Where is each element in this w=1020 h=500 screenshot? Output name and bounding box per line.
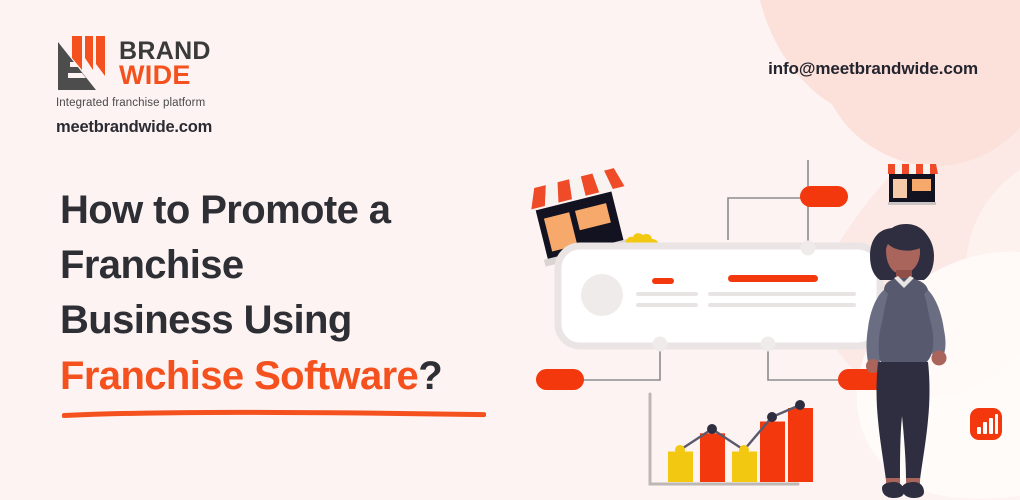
card-node bbox=[653, 337, 668, 352]
headline-question-mark: ? bbox=[418, 354, 442, 398]
contact-email[interactable]: info@meetbrandwide.com bbox=[768, 59, 978, 79]
brand-wordmark: BRAND WIDE bbox=[119, 38, 211, 88]
headline-accent-text: Franchise Software bbox=[60, 354, 418, 398]
brand-website[interactable]: meetbrandwide.com bbox=[56, 118, 316, 137]
bar-chart-app-icon[interactable] bbox=[970, 408, 1002, 440]
brand-block: BRAND WIDE Integrated franchise platform… bbox=[56, 34, 316, 137]
chart-bar bbox=[760, 422, 785, 483]
card-text-line bbox=[636, 303, 698, 307]
chart-marker bbox=[739, 445, 749, 455]
brand-tagline: Integrated franchise platform bbox=[56, 97, 316, 109]
headline-line-3: Business Using bbox=[60, 293, 530, 348]
promo-banner: BRAND WIDE Integrated franchise platform… bbox=[0, 0, 1020, 500]
chart-marker bbox=[707, 424, 717, 434]
bar-chart-icon bbox=[650, 394, 813, 484]
headline-line-4: Franchise Software? bbox=[60, 349, 530, 404]
person-pants bbox=[877, 362, 930, 480]
storefront-icon bbox=[888, 164, 938, 205]
connector-bottom-right bbox=[768, 345, 850, 380]
headline-line-1: How to Promote a bbox=[60, 183, 530, 238]
card-text-line bbox=[708, 292, 856, 296]
chart-bar bbox=[700, 433, 725, 482]
card-node bbox=[761, 337, 776, 352]
page-title: How to Promote a Franchise Business Usin… bbox=[60, 183, 530, 404]
person-standing-illustration bbox=[866, 224, 947, 498]
card-accent-bar-left bbox=[652, 278, 674, 284]
avatar bbox=[581, 274, 623, 316]
person-shoe bbox=[902, 482, 924, 498]
node-pill-bottom-left bbox=[536, 369, 584, 390]
awning bbox=[888, 164, 938, 174]
dashboard-card bbox=[558, 241, 880, 352]
brand-lockup: BRAND WIDE bbox=[56, 34, 316, 92]
chart-marker bbox=[767, 412, 777, 422]
card-text-line bbox=[636, 292, 698, 296]
node-pill-top-right bbox=[800, 186, 848, 207]
chart-bar bbox=[732, 452, 757, 483]
chart-marker bbox=[795, 400, 805, 410]
brandwide-logo-icon bbox=[56, 34, 110, 92]
headline-line-2: Franchise bbox=[60, 238, 530, 293]
headline-underline bbox=[62, 405, 486, 414]
chart-bar bbox=[668, 452, 693, 483]
hero-illustration bbox=[500, 140, 1020, 500]
person-shoe bbox=[882, 482, 904, 498]
brand-word-wide: WIDE bbox=[119, 63, 211, 88]
person-right-hand bbox=[932, 351, 947, 366]
chart-bar bbox=[788, 408, 813, 482]
card-node bbox=[801, 241, 816, 256]
card-accent-bar-right bbox=[728, 275, 818, 282]
card-text-line bbox=[708, 303, 856, 307]
connector-bottom-left bbox=[578, 345, 660, 380]
connector-top-pill bbox=[728, 198, 802, 240]
chart-marker bbox=[675, 445, 685, 455]
